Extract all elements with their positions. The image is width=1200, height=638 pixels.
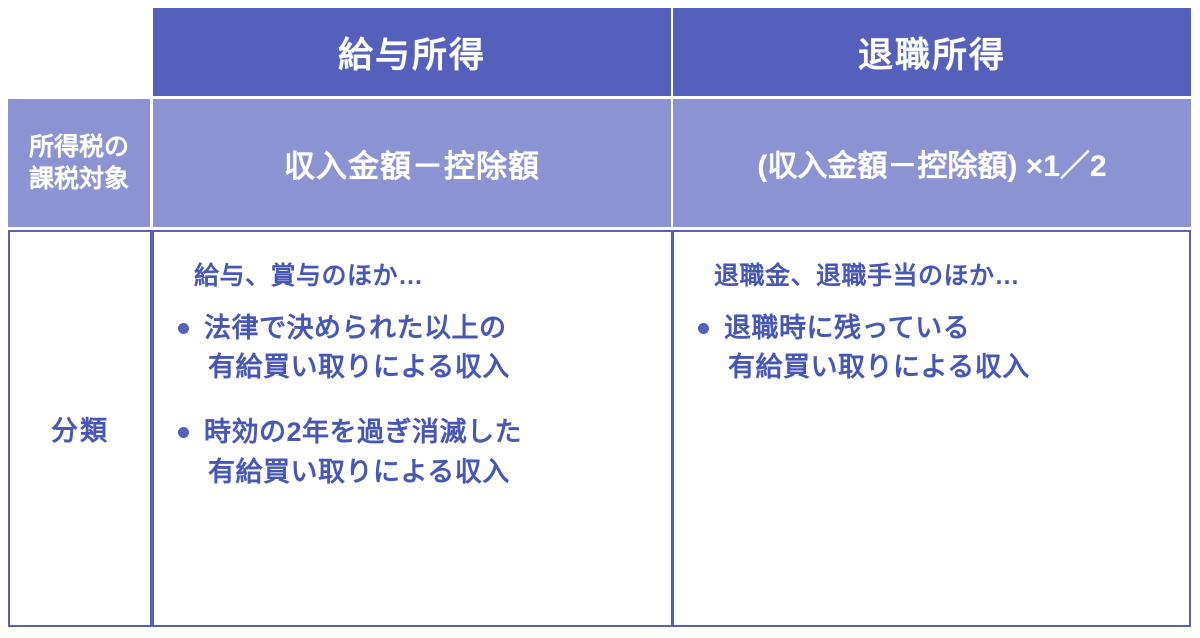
bullet-line2: 有給買い取りによる収入	[724, 348, 1189, 387]
header-salary-income: 給与所得	[153, 8, 671, 96]
bullet-dot-icon	[178, 427, 189, 438]
row-label-classification: 分類	[8, 230, 152, 627]
salary-bullet-list: 法律で決められた以上の 有給買い取りによる収入 時効の2年を過ぎ消滅した 有給買…	[176, 309, 671, 493]
bullet-line1: 退職時に残っている	[724, 313, 970, 343]
row-label-line1: 所得税の	[29, 131, 129, 163]
retirement-classification-cell: 退職金、退職手当のほか… 退職時に残っている 有給買い取りによる収入	[672, 230, 1191, 627]
row-label-line2: 課税対象	[29, 163, 129, 195]
bullet-dot-icon	[178, 323, 189, 334]
list-item: 時効の2年を過ぎ消滅した 有給買い取りによる収入	[176, 413, 671, 492]
comparison-table: 給与所得 退職所得 所得税の 課税対象 収入金額－控除額 (収入金額－控除額) …	[0, 0, 1200, 638]
salary-taxable-formula: 収入金額－控除額	[153, 99, 671, 227]
salary-lead-text: 給与、賞与のほか…	[194, 258, 671, 295]
bullet-line2: 有給買い取りによる収入	[204, 348, 671, 387]
list-item: 退職時に残っている 有給買い取りによる収入	[696, 309, 1189, 388]
retirement-lead-text: 退職金、退職手当のほか…	[714, 258, 1189, 295]
header-retirement-income: 退職所得	[673, 8, 1191, 96]
bullet-dot-icon	[698, 323, 709, 334]
bullet-line1: 時効の2年を過ぎ消滅した	[204, 417, 522, 447]
retirement-bullet-list: 退職時に残っている 有給買い取りによる収入	[696, 309, 1189, 388]
bullet-line1: 法律で決められた以上の	[204, 313, 507, 343]
list-item: 法律で決められた以上の 有給買い取りによる収入	[176, 309, 671, 388]
salary-classification-cell: 給与、賞与のほか… 法律で決められた以上の 有給買い取りによる収入 時効の2年を…	[152, 230, 673, 627]
retirement-taxable-formula: (収入金額－控除額) ×1／2	[673, 99, 1191, 227]
header-corner-cell	[8, 8, 150, 96]
row-label-taxable-object: 所得税の 課税対象	[8, 99, 150, 227]
bullet-line2: 有給買い取りによる収入	[204, 453, 671, 492]
